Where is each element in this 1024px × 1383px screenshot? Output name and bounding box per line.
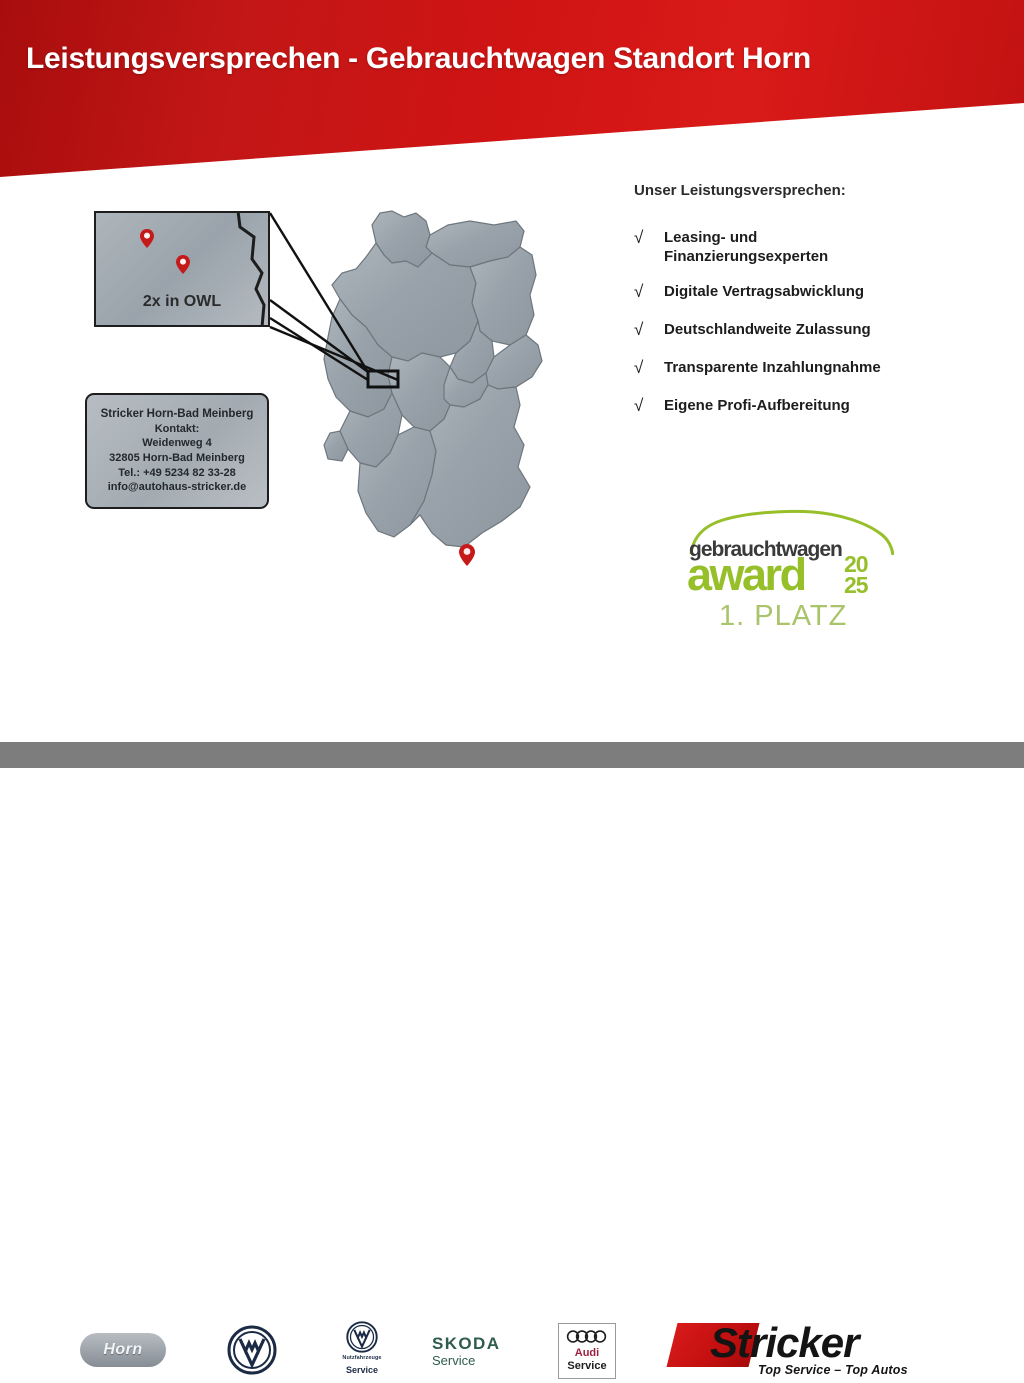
contact-line-city: 32805 Horn-Bad Meinberg <box>109 451 245 466</box>
promise-item: √ Leasing- und Finanzierungsexperten <box>634 228 1014 266</box>
volkswagen-roundel-icon <box>346 1321 378 1353</box>
owl-inset-map: 2x in OWL <box>94 211 270 327</box>
promises-list: √ Leasing- und Finanzierungsexperten √ D… <box>634 228 1014 434</box>
promise-item: √ Eigene Profi-Aufbereitung <box>634 396 1014 415</box>
footer-logo-row: Horn Nutzfahrzeuge Service SKODA Service <box>0 655 1024 740</box>
award-year-text: 20 25 <box>844 554 868 596</box>
skoda-label-2: Service <box>432 1353 528 1368</box>
audi-rings-icon <box>566 1330 610 1343</box>
promise-label: Transparente Inzahlungnahme <box>664 358 881 377</box>
skoda-label-1: SKODA <box>432 1334 528 1353</box>
audi-label-1: Audi <box>559 1347 615 1359</box>
audi-service-logo: Audi Service <box>558 1323 616 1379</box>
check-icon: √ <box>634 282 664 301</box>
promise-label: Leasing- und Finanzierungsexperten <box>664 228 828 266</box>
stricker-tagline-text: Top Service – Top Autos <box>758 1363 908 1377</box>
germany-map-icon <box>280 195 580 620</box>
contact-line-name: Stricker Horn-Bad Meinberg <box>101 407 254 422</box>
stricker-logo: Stricker Top Service – Top Autos <box>672 1317 948 1383</box>
vw-nfz-label-1: Nutzfahrzeuge <box>335 1355 389 1361</box>
audi-label-2: Service <box>559 1360 615 1372</box>
map-pin-icon <box>459 544 475 566</box>
vw-nfz-label-2: Service <box>335 1365 389 1375</box>
check-icon: √ <box>634 320 664 339</box>
volkswagen-logo-icon <box>227 1325 277 1375</box>
horn-logo-label: Horn <box>103 1341 142 1359</box>
stricker-name-text: Stricker <box>710 1319 858 1367</box>
skoda-service-logo: SKODA Service <box>432 1334 528 1372</box>
contact-line-kontakt: Kontakt: <box>155 422 200 437</box>
owl-pin-2-icon <box>176 255 190 274</box>
page-title: Leistungsversprechen - Gebrauchtwagen St… <box>26 42 811 76</box>
bottom-bar <box>0 742 1024 768</box>
vw-nutzfahrzeuge-logo: Nutzfahrzeuge Service <box>335 1321 389 1381</box>
contact-info-box: Stricker Horn-Bad Meinberg Kontakt: Weid… <box>85 393 269 509</box>
owl-pin-1-icon <box>140 229 154 248</box>
promise-item: √ Deutschlandweite Zulassung <box>634 320 1014 339</box>
promise-label: Deutschlandweite Zulassung <box>664 320 871 339</box>
check-icon: √ <box>634 396 664 415</box>
promise-item: √ Digitale Vertragsabwicklung <box>634 282 1014 301</box>
slide-root: Leistungsversprechen - Gebrauchtwagen St… <box>0 0 1024 768</box>
contact-line-email: info@autohaus-stricker.de <box>108 480 246 495</box>
contact-line-phone: Tel.: +49 5234 82 33-28 <box>118 466 236 481</box>
contact-line-street: Weidenweg 4 <box>142 436 211 451</box>
header-banner: Leistungsversprechen - Gebrauchtwagen St… <box>0 0 1024 180</box>
horn-logo: Horn <box>80 1333 166 1367</box>
award-year-bottom: 25 <box>844 575 868 596</box>
award-badge: gebrauchtwagen award 20 25 1. PLATZ <box>683 508 898 633</box>
check-icon: √ <box>634 228 664 247</box>
promises-heading: Unser Leistungsversprechen: <box>634 182 846 199</box>
owl-caption: 2x in OWL <box>96 293 268 311</box>
award-rank-text: 1. PLATZ <box>719 600 847 633</box>
award-word-text: award <box>687 552 805 597</box>
promise-label: Eigene Profi-Aufbereitung <box>664 396 850 415</box>
promise-item: √ Transparente Inzahlungnahme <box>634 358 1014 377</box>
check-icon: √ <box>634 358 664 377</box>
promise-label: Digitale Vertragsabwicklung <box>664 282 864 301</box>
